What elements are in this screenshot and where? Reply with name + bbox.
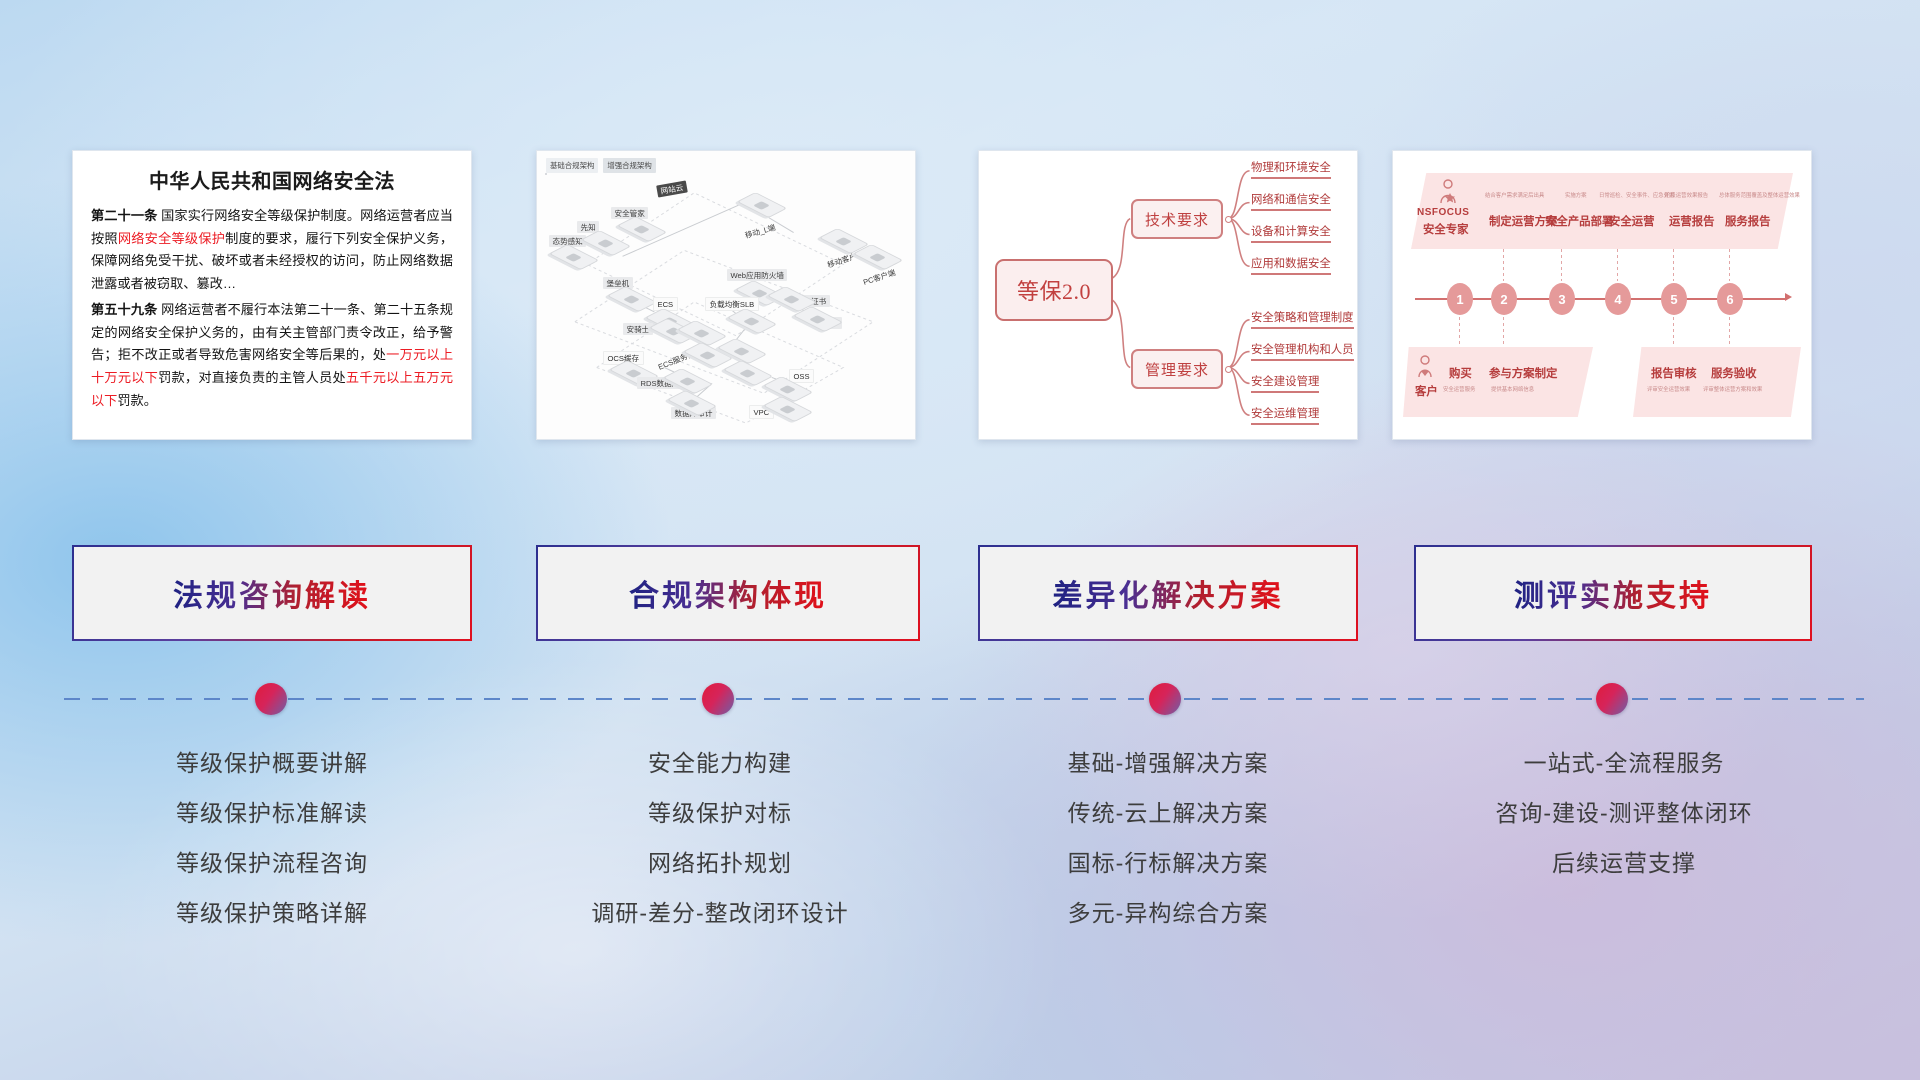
mindmap-branch-technical: 技术要求 — [1131, 199, 1223, 239]
timeline-tick — [1503, 317, 1504, 347]
law-run: 罚款。 — [117, 393, 157, 408]
timeline-tick — [1561, 249, 1562, 281]
bottom-step-sub: 提供基本网络信息 — [1491, 385, 1534, 393]
law-article-label: 第二十一条 — [91, 208, 157, 223]
timeline-tick — [1617, 249, 1618, 281]
detail-item: 等级保护概要讲解 — [48, 738, 496, 788]
headline-box-regulation-consulting[interactable]: 法规咨询解读 — [72, 545, 472, 641]
bottom-step-sub: 评审整体运营方案和效果 — [1703, 385, 1762, 393]
law-document: 中华人民共和国网络安全法 第二十一条 国家实行网络安全等级保护制度。网络运营者应… — [73, 151, 471, 439]
card-service-process-timeline[interactable]: NSFOCUS 安全专家 结合客户需求满足后出具 制定运营方案 实施方案 安全产… — [1392, 150, 1812, 440]
mindmap-collapse-icon[interactable] — [1225, 366, 1232, 373]
headline-label: 法规咨询解读 — [173, 571, 371, 615]
customer-band-right — [1633, 347, 1801, 417]
bottom-step-cap: 购买 — [1449, 365, 1472, 381]
icon-node-cylinder — [589, 233, 623, 253]
timeline-marker-3[interactable] — [1149, 683, 1181, 715]
timeline-tick — [1729, 249, 1730, 281]
slide-stage: 中华人民共和国网络安全法 第二十一条 国家实行网络安全等级保护制度。网络运营者应… — [0, 0, 1920, 1080]
top-step-sub: 实施方案 — [1565, 191, 1587, 199]
vendor-role-line2: 安全专家 — [1423, 221, 1469, 237]
icon-node-cylinder — [615, 289, 649, 309]
top-step-cap: 运营报告 — [1669, 213, 1715, 229]
timeline-marker-1[interactable] — [255, 683, 287, 715]
top-step-cap: 安全产品部署 — [1545, 213, 1613, 229]
headline-box-compliance-architecture[interactable]: 合规架构体现 — [536, 545, 920, 641]
icon-node-cylinder — [731, 363, 765, 383]
detail-column-solution: 基础-增强解决方案 传统-云上解决方案 国标-行标解决方案 多元-异构综合方案 — [944, 738, 1392, 938]
top-step-sub: 阶段运营效果报告 — [1665, 191, 1708, 199]
expert-person-icon — [1437, 179, 1459, 205]
node-label-anqishi: 安骑士 — [623, 323, 653, 335]
detail-item: 咨询-建设-测评整体闭环 — [1400, 788, 1848, 838]
timeline-tick — [1673, 249, 1674, 281]
tab-basic-compliance[interactable]: 基础合规架构 — [546, 158, 598, 173]
process-timeline-diagram: NSFOCUS 安全专家 结合客户需求满足后出具 制定运营方案 实施方案 安全产… — [1393, 151, 1811, 439]
detail-item: 等级保护策略详解 — [48, 888, 496, 938]
law-run: 罚款，对直接负责的主管人员处 — [158, 370, 346, 385]
headline-row: 法规咨询解读 合规架构体现 差异化解决方案 测评实施支持 — [0, 545, 1920, 641]
timeline-marker-2[interactable] — [702, 683, 734, 715]
law-article-label: 第五十九条 — [91, 302, 157, 317]
icon-node-server — [725, 341, 759, 361]
architecture-tab-bar: 基础合规架构 增强合规架构 — [546, 158, 656, 173]
timeline-tick — [1729, 317, 1730, 347]
headline-box-differentiated-solution[interactable]: 差异化解决方案 — [978, 545, 1358, 641]
architecture-diagram: 基础合规架构 增强合规架构 — [537, 151, 915, 439]
mindmap-leaf: 安全运维管理 — [1251, 405, 1319, 425]
top-step-cap: 安全运营 — [1609, 213, 1655, 229]
step-number: 2 — [1491, 283, 1517, 315]
icon-node-cylinder — [557, 247, 591, 267]
timeline-marker-4[interactable] — [1596, 683, 1628, 715]
timeline-tick — [1503, 249, 1504, 281]
headline-label: 合规架构体现 — [629, 571, 827, 615]
detail-item: 等级保护标准解读 — [48, 788, 496, 838]
timeline-tick — [1673, 317, 1674, 347]
mindmap-leaf: 应用和数据安全 — [1251, 255, 1331, 275]
step-number: 6 — [1717, 283, 1743, 315]
mindmap-leaf: 安全管理机构和人员 — [1251, 341, 1354, 361]
mindmap-leaf: 安全建设管理 — [1251, 373, 1319, 393]
step-number: 5 — [1661, 283, 1687, 315]
icon-node-device — [745, 195, 779, 215]
architecture-zone — [545, 173, 547, 175]
detail-item: 安全能力构建 — [496, 738, 944, 788]
timeline-arrow-icon — [1785, 293, 1792, 301]
headline-label: 测评实施支持 — [1514, 571, 1712, 615]
detail-item: 后续运营支撑 — [1400, 838, 1848, 888]
headline-label: 差异化解决方案 — [1053, 571, 1284, 615]
mindmap-diagram: 等保2.0 技术要求 物理和环境安全 网络和通信安全 设备和计算安全 应用和数据… — [979, 151, 1357, 439]
mindmap-leaf: 物理和环境安全 — [1251, 159, 1331, 179]
icon-node-cylinder — [801, 309, 835, 329]
mindmap-leaf: 网络和通信安全 — [1251, 191, 1331, 211]
mindmap-collapse-icon[interactable] — [1225, 216, 1232, 223]
law-run-highlight: 网络安全等级保护 — [118, 231, 225, 246]
detail-item: 调研-差分-整改闭环设计 — [496, 888, 944, 938]
top-step-sub: 日常巡检、安全事件、应急处置 — [1599, 191, 1674, 199]
customer-person-icon — [1415, 355, 1435, 381]
card-cloud-architecture[interactable]: 基础合规架构 增强合规架构 — [536, 150, 916, 440]
bottom-step-cap: 报告审核 — [1651, 365, 1697, 381]
top-step-cap: 服务报告 — [1725, 213, 1771, 229]
card-cybersecurity-law[interactable]: 中华人民共和国网络安全法 第二十一条 国家实行网络安全等级保护制度。网络运营者应… — [72, 150, 472, 440]
icon-node-cylinder — [771, 379, 805, 399]
thumbnail-card-row: 中华人民共和国网络安全法 第二十一条 国家实行网络安全等级保护制度。网络运营者应… — [0, 150, 1920, 440]
icon-node-cylinder — [625, 219, 659, 239]
detail-item: 网络拓扑规划 — [496, 838, 944, 888]
icon-node-device — [827, 231, 861, 251]
card-mindmap-dengbao[interactable]: 等保2.0 技术要求 物理和环境安全 网络和通信安全 设备和计算安全 应用和数据… — [978, 150, 1358, 440]
architecture-canvas: 网站云 态势感知 先知 安全管家 堡垒机 移动_L端 Web应用防火墙 移动客户… — [545, 173, 907, 431]
bottom-step-cap: 服务验收 — [1711, 365, 1757, 381]
icon-node-device — [861, 247, 895, 267]
detail-item: 一站式-全流程服务 — [1400, 738, 1848, 788]
mindmap-leaf: 安全策略和管理制度 — [1251, 309, 1354, 329]
node-label-web-application-firewall: Web应用防火墙 — [727, 269, 787, 281]
vendor-role-line1: NSFOCUS — [1417, 207, 1469, 218]
mindmap-root-node: 等保2.0 — [995, 259, 1113, 321]
step-number: 3 — [1549, 283, 1575, 315]
detail-item: 传统-云上解决方案 — [944, 788, 1392, 838]
detail-column-architecture: 安全能力构建 等级保护对标 网络拓扑规划 调研-差分-整改闭环设计 — [496, 738, 944, 938]
icon-node-cylinder — [735, 311, 769, 331]
top-step-sub: 结合客户需求满足后出具 — [1485, 191, 1544, 199]
step-number: 1 — [1447, 283, 1473, 315]
detail-item: 等级保护流程咨询 — [48, 838, 496, 888]
headline-box-assessment-support[interactable]: 测评实施支持 — [1414, 545, 1812, 641]
icon-node-cylinder — [675, 393, 709, 413]
timeline-dashed-line — [64, 698, 1864, 700]
detail-item: 多元-异构综合方案 — [944, 888, 1392, 938]
mindmap-branch-management: 管理要求 — [1131, 349, 1223, 389]
detail-column-assessment: 一站式-全流程服务 咨询-建设-测评整体闭环 后续运营支撑 — [1400, 738, 1848, 888]
law-paragraph-21: 第二十一条 国家实行网络安全等级保护制度。网络运营者应当按照网络安全等级保护制度… — [91, 205, 453, 296]
detail-item: 等级保护对标 — [496, 788, 944, 838]
bottom-step-sub: 安全运营服务 — [1443, 385, 1475, 393]
icon-node-server — [685, 323, 719, 343]
law-title: 中华人民共和国网络安全法 — [91, 165, 453, 194]
detail-item: 国标-行标解决方案 — [944, 838, 1392, 888]
node-label-load-balancer-slb: 负载均衡SLB — [705, 297, 759, 311]
law-paragraph-59: 第五十九条 网络运营者不履行本法第二十一条、第二十五条规定的网络安全保护义务的，… — [91, 299, 453, 413]
mindmap-leaf: 设备和计算安全 — [1251, 223, 1331, 243]
tab-enhanced-compliance[interactable]: 增强合规架构 — [603, 158, 655, 173]
customer-role-label: 客户 — [1415, 383, 1438, 399]
icon-node-cylinder — [671, 371, 705, 391]
icon-node-cylinder — [775, 289, 809, 309]
bottom-step-sub: 评审安全运营效果 — [1647, 385, 1690, 393]
icon-node-cylinder — [771, 399, 805, 419]
top-step-sub: 总体服务范围覆盖及整体运营效果 — [1719, 191, 1800, 199]
detail-item: 基础-增强解决方案 — [944, 738, 1392, 788]
step-number: 4 — [1605, 283, 1631, 315]
node-label-security-butler: 安全管家 — [611, 207, 648, 219]
bottom-step-cap: 参与方案制定 — [1489, 365, 1557, 381]
timeline-tick — [1459, 317, 1460, 347]
detail-column-regulation: 等级保护概要讲解 等级保护标准解读 等级保护流程咨询 等级保护策略详解 — [48, 738, 496, 938]
